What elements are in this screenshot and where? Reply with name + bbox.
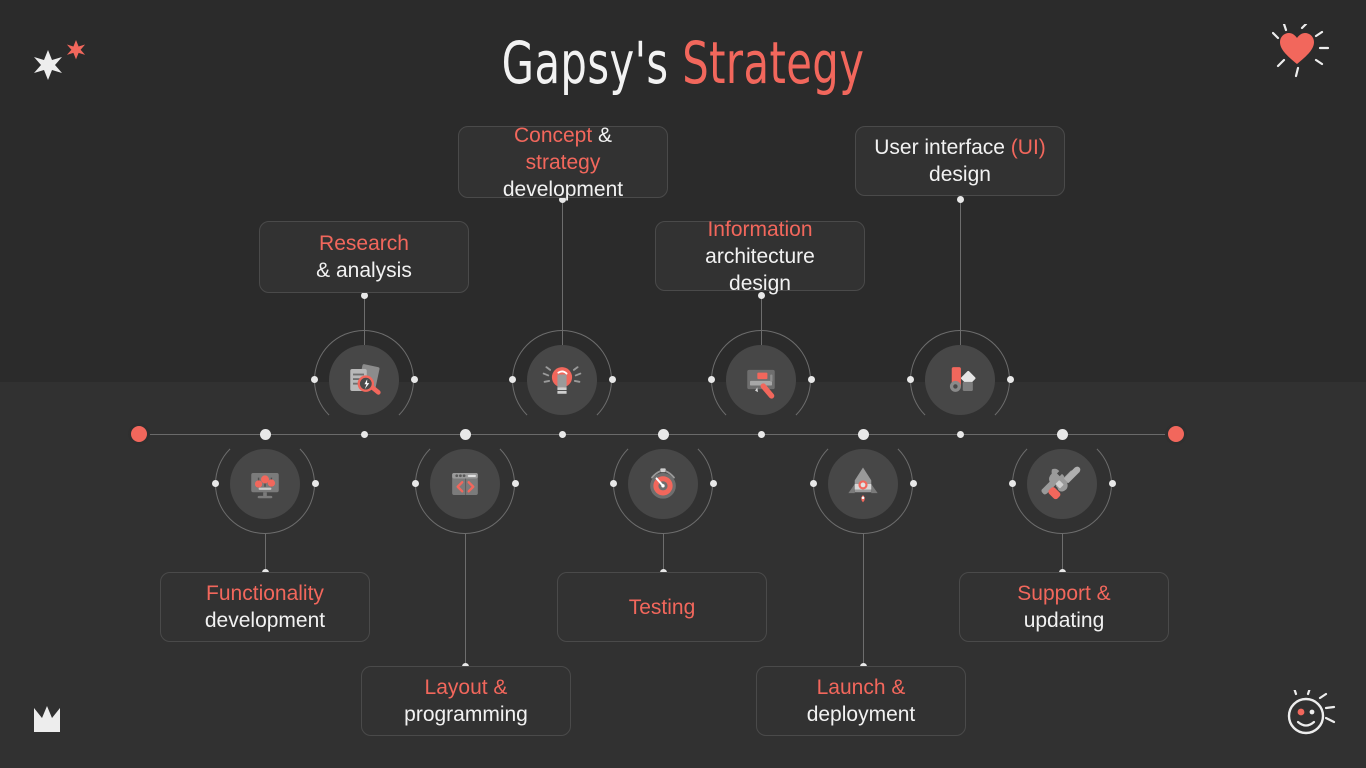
node-dot-right-testing: [710, 480, 717, 487]
node-dot-right-ui: [1007, 376, 1014, 383]
node-dot-right-research: [411, 376, 418, 383]
node-dot-left-testing: [610, 480, 617, 487]
card-functionality-line2: development: [205, 607, 325, 634]
node-dot-left-concept: [509, 376, 516, 383]
card-support-accent: Support &: [1017, 582, 1110, 605]
crown-icon: [30, 702, 74, 740]
lightbulb-icon: [540, 358, 584, 402]
card-concept-strategy[interactable]: Concept & strategy development: [458, 126, 668, 198]
connector-information: [761, 295, 762, 345]
card-information-line2: architecture design: [674, 243, 846, 297]
node-circle-information[interactable]: [726, 345, 796, 415]
wrench-screwdriver-icon: [1040, 462, 1084, 506]
node-dot-right-concept: [609, 376, 616, 383]
card-ui-line1: User interface (UI): [874, 134, 1046, 161]
page-title: Gapsy's Strategy: [137, 28, 1230, 98]
node-dot-left-research: [311, 376, 318, 383]
bottom-left-crown: [30, 702, 74, 740]
connector-launch: [863, 534, 864, 665]
card-launch-deployment[interactable]: Launch & deployment: [756, 666, 966, 736]
card-launch-line2: deployment: [807, 701, 916, 728]
node-circle-functionality[interactable]: [230, 449, 300, 519]
node-circle-layout[interactable]: [430, 449, 500, 519]
node-dot-axis-concept: [559, 431, 566, 438]
card-testing[interactable]: Testing: [557, 572, 767, 642]
card-concept-ampersand: &: [592, 124, 612, 147]
card-functionality[interactable]: Functionality development: [160, 572, 370, 642]
monitor-nodes-icon: [243, 462, 287, 506]
smiley-face-icon: [1280, 690, 1340, 746]
node-circle-concept[interactable]: [527, 345, 597, 415]
card-layout-line2: programming: [404, 701, 528, 728]
node-dot-left-launch: [810, 480, 817, 487]
card-functionality-accent: Functionality: [206, 582, 324, 605]
magnifier-documents-icon: [342, 358, 386, 402]
card-concept-accent-1: Concept: [514, 124, 592, 147]
card-layout-line1: Layout &: [425, 674, 508, 701]
bottom-right-face: [1280, 690, 1340, 746]
node-dot-left-functionality: [212, 480, 219, 487]
wireframe-pencil-icon: [739, 358, 783, 402]
node-dot-axis-ui: [957, 431, 964, 438]
card-ui-line2: design: [929, 161, 991, 188]
node-dot-axis-information: [758, 431, 765, 438]
code-window-icon: [443, 462, 487, 506]
node-dot-right-launch: [910, 480, 917, 487]
node-circle-testing[interactable]: [628, 449, 698, 519]
connector-dot-research: [361, 292, 368, 299]
card-ui-accent: (UI): [1011, 136, 1046, 159]
card-layout-accent: Layout &: [425, 676, 508, 699]
connector-research: [364, 295, 365, 345]
card-layout-programming[interactable]: Layout & programming: [361, 666, 571, 736]
sparkle-icon: [26, 36, 96, 96]
card-support-updating[interactable]: Support & updating: [959, 572, 1169, 642]
node-dot-right-layout: [512, 480, 519, 487]
card-information-line1: Information: [707, 216, 812, 243]
node-dot-axis-functionality: [260, 429, 271, 440]
card-testing-line1: Testing: [629, 594, 696, 621]
node-dot-right-information: [808, 376, 815, 383]
card-support-line1: Support &: [1017, 580, 1110, 607]
node-dot-right-functionality: [312, 480, 319, 487]
node-circle-research[interactable]: [329, 345, 399, 415]
node-dot-axis-layout: [460, 429, 471, 440]
slide-canvas: Gapsy's Strategy: [0, 0, 1366, 768]
card-concept-line2: development: [503, 176, 623, 203]
node-dot-left-information: [708, 376, 715, 383]
card-research-accent: Research: [319, 232, 409, 255]
connector-ui: [960, 200, 961, 345]
node-dot-left-layout: [412, 480, 419, 487]
timeline-end-marker: [1165, 423, 1187, 445]
card-launch-line1: Launch &: [817, 674, 906, 701]
rocket-icon: [841, 462, 885, 506]
node-dot-axis-testing: [658, 429, 669, 440]
card-launch-accent: Launch &: [817, 676, 906, 699]
card-research[interactable]: Research & analysis: [259, 221, 469, 293]
connector-testing: [663, 534, 664, 571]
connector-dot-ui: [957, 196, 964, 203]
connector-functionality: [265, 534, 266, 571]
card-research-line2: & analysis: [316, 257, 412, 284]
card-ui-plain: User interface: [874, 136, 1011, 159]
node-dot-axis-research: [361, 431, 368, 438]
stopwatch-icon: [641, 462, 685, 506]
card-support-line2: updating: [1024, 607, 1105, 634]
node-dot-left-support: [1009, 480, 1016, 487]
card-information-architecture[interactable]: Information architecture design: [655, 221, 865, 291]
connector-support: [1062, 534, 1063, 571]
title-part-one: Gapsy's: [502, 29, 669, 97]
title-part-two: Strategy: [682, 29, 864, 97]
node-circle-support[interactable]: [1027, 449, 1097, 519]
connector-layout: [465, 534, 466, 665]
node-circle-ui[interactable]: [925, 345, 995, 415]
connector-concept: [562, 200, 563, 345]
card-concept-line1: Concept & strategy: [477, 122, 649, 176]
card-testing-accent: Testing: [629, 596, 696, 619]
timeline-start-marker: [128, 423, 150, 445]
card-research-line1: Research: [319, 230, 409, 257]
heart-icon: [1272, 24, 1336, 82]
top-right-heart: [1272, 24, 1336, 82]
node-dot-axis-launch: [858, 429, 869, 440]
card-functionality-line1: Functionality: [206, 580, 324, 607]
color-swatch-icon: [938, 358, 982, 402]
node-dot-left-ui: [907, 376, 914, 383]
node-dot-axis-support: [1057, 429, 1068, 440]
card-information-accent: Information: [707, 218, 812, 241]
node-dot-right-support: [1109, 480, 1116, 487]
node-circle-launch[interactable]: [828, 449, 898, 519]
card-ui-design[interactable]: User interface (UI) design: [855, 126, 1065, 196]
card-concept-accent-2: strategy: [526, 151, 601, 174]
top-left-sparkles: [26, 36, 96, 96]
